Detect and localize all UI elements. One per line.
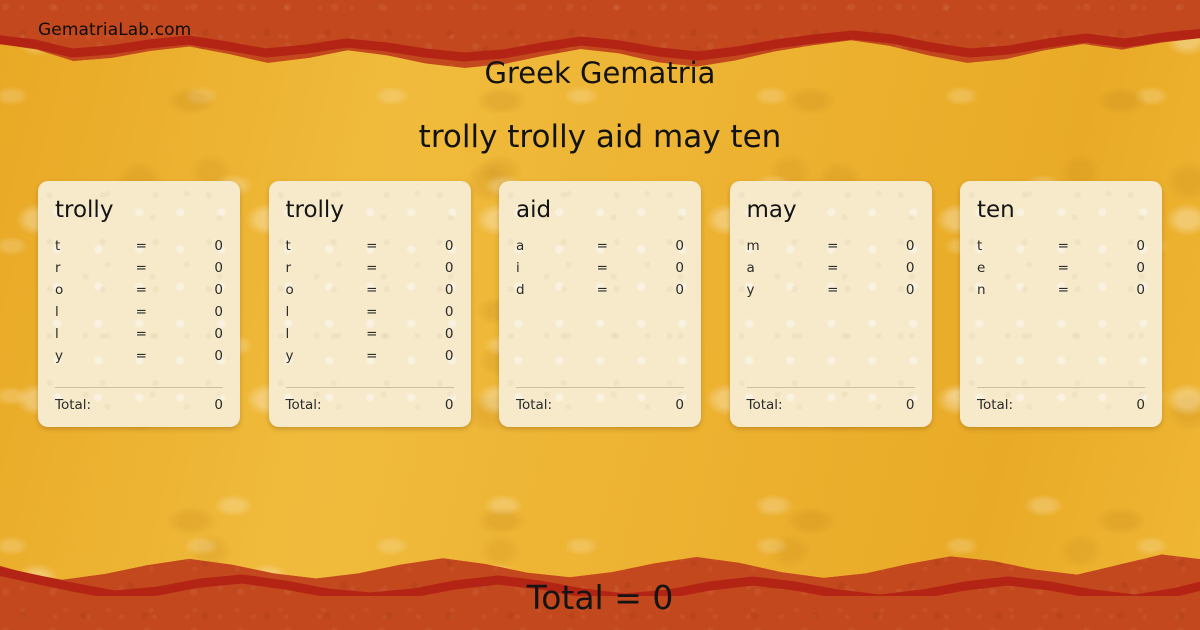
letter-value: 0	[406, 348, 453, 364]
letter-row: l = 0	[55, 326, 223, 348]
letter-row: a = 0	[516, 238, 684, 260]
letter-value: 0	[176, 282, 223, 298]
card-total-label: Total:	[286, 397, 445, 413]
letter-value: 0	[176, 260, 223, 276]
equals-sign: =	[136, 260, 176, 276]
letter-value: 0	[406, 282, 453, 298]
equals-sign: =	[366, 238, 406, 254]
letter-row: d = 0	[516, 282, 684, 304]
letter: l	[286, 304, 367, 320]
equals-sign: =	[1058, 238, 1098, 254]
letter: r	[286, 260, 367, 276]
equals-sign: =	[366, 326, 406, 342]
letter: t	[977, 238, 1058, 254]
letter-value: 0	[1098, 260, 1145, 276]
card-word-title: trolly	[55, 198, 223, 222]
letter-row: t = 0	[55, 238, 223, 260]
letter: y	[286, 348, 367, 364]
card-word-title: ten	[977, 198, 1145, 222]
card-spacer	[286, 370, 454, 387]
word-cards-row: trolly t = 0 r = 0 o = 0 l	[38, 181, 1162, 427]
letter-value: 0	[637, 238, 684, 254]
letter: n	[977, 282, 1058, 298]
letter-row: y = 0	[55, 348, 223, 370]
equals-sign: =	[597, 282, 637, 298]
header-block: Greek Gematria trolly trolly aid may ten	[0, 58, 1200, 154]
letter-value: 0	[406, 326, 453, 342]
card-spacer	[977, 304, 1145, 387]
letter-row: n = 0	[977, 282, 1145, 304]
letter: l	[55, 326, 136, 342]
word-card[interactable]: trolly t = 0 r = 0 o = 0 l	[269, 181, 471, 427]
letter: o	[55, 282, 136, 298]
card-total-value: 0	[1136, 397, 1145, 413]
letter-row: r = 0	[55, 260, 223, 282]
letter-value: 0	[1098, 282, 1145, 298]
letter-value: 0	[867, 282, 914, 298]
card-total-value: 0	[445, 397, 454, 413]
letter: m	[747, 238, 828, 254]
equals-sign: =	[1058, 260, 1098, 276]
letter-value: 0	[1098, 238, 1145, 254]
letter-row: a = 0	[747, 260, 915, 282]
equals-sign: =	[366, 260, 406, 276]
letter-value: 0	[176, 304, 223, 320]
card-total-label: Total:	[977, 397, 1136, 413]
letter: t	[55, 238, 136, 254]
letter-value-list: a = 0 i = 0 d = 0	[516, 238, 684, 304]
equals-sign: =	[366, 282, 406, 298]
card-word-title: aid	[516, 198, 684, 222]
letter: t	[286, 238, 367, 254]
letter: l	[55, 304, 136, 320]
letter: a	[747, 260, 828, 276]
letter: r	[55, 260, 136, 276]
letter-row: l = 0	[286, 326, 454, 348]
letter-value-list: m = 0 a = 0 y = 0	[747, 238, 915, 304]
equals-sign: =	[827, 238, 867, 254]
card-total-row: Total: 0	[286, 397, 454, 413]
card-total-label: Total:	[516, 397, 675, 413]
letter-value: 0	[406, 260, 453, 276]
letter-value: 0	[176, 326, 223, 342]
letter: e	[977, 260, 1058, 276]
letter-value: 0	[637, 282, 684, 298]
card-total-value: 0	[214, 397, 223, 413]
card-total-label: Total:	[55, 397, 214, 413]
phrase-heading: trolly trolly aid may ten	[0, 120, 1200, 154]
word-card[interactable]: aid a = 0 i = 0 d = 0	[499, 181, 701, 427]
equals-sign: =	[597, 238, 637, 254]
equals-sign: =	[827, 282, 867, 298]
letter-value: 0	[406, 238, 453, 254]
card-spacer	[747, 304, 915, 387]
equals-sign: =	[1058, 282, 1098, 298]
letter: d	[516, 282, 597, 298]
equals-sign: =	[136, 282, 176, 298]
letter-row: r = 0	[286, 260, 454, 282]
letter-row: l = 0	[55, 304, 223, 326]
letter: i	[516, 260, 597, 276]
card-divider	[55, 387, 223, 388]
equals-sign: =	[136, 326, 176, 342]
card-word-title: may	[747, 198, 915, 222]
letter: a	[516, 238, 597, 254]
equals-sign: =	[136, 238, 176, 254]
letter: y	[55, 348, 136, 364]
equals-sign: =	[597, 260, 637, 276]
letter-value-list: t = 0 r = 0 o = 0 l = 0	[286, 238, 454, 370]
page-title: Greek Gematria	[0, 58, 1200, 90]
letter-value: 0	[867, 260, 914, 276]
card-total-value: 0	[675, 397, 684, 413]
word-card[interactable]: may m = 0 a = 0 y = 0	[730, 181, 932, 427]
card-total-row: Total: 0	[516, 397, 684, 413]
letter-row: i = 0	[516, 260, 684, 282]
card-divider	[286, 387, 454, 388]
card-total-row: Total: 0	[747, 397, 915, 413]
equals-sign: =	[136, 348, 176, 364]
card-divider	[977, 387, 1145, 388]
site-brand[interactable]: GematriaLab.com	[38, 20, 191, 40]
card-spacer	[55, 370, 223, 387]
letter: y	[747, 282, 828, 298]
letter-row: o = 0	[286, 282, 454, 304]
letter-row: l = 0	[286, 304, 454, 326]
letter-row: y = 0	[286, 348, 454, 370]
letter-value: 0	[406, 304, 453, 320]
letter-value: 0	[637, 260, 684, 276]
card-total-row: Total: 0	[977, 397, 1145, 413]
letter-row: e = 0	[977, 260, 1145, 282]
letter-value-list: t = 0 e = 0 n = 0	[977, 238, 1145, 304]
letter-row: m = 0	[747, 238, 915, 260]
equals-sign: =	[827, 260, 867, 276]
card-word-title: trolly	[286, 198, 454, 222]
card-spacer	[516, 304, 684, 387]
word-card[interactable]: ten t = 0 e = 0 n = 0	[960, 181, 1162, 427]
letter-row: t = 0	[977, 238, 1145, 260]
equals-sign: =	[366, 348, 406, 364]
letter: l	[286, 326, 367, 342]
page-canvas: GematriaLab.com Greek Gematria trolly tr…	[0, 0, 1200, 630]
card-divider	[747, 387, 915, 388]
letter-row: o = 0	[55, 282, 223, 304]
grand-total: Total = 0	[0, 580, 1200, 616]
letter-value: 0	[176, 238, 223, 254]
letter-value: 0	[867, 238, 914, 254]
card-total-label: Total:	[747, 397, 906, 413]
letter-row: t = 0	[286, 238, 454, 260]
word-card[interactable]: trolly t = 0 r = 0 o = 0 l	[38, 181, 240, 427]
card-total-value: 0	[906, 397, 915, 413]
letter-value-list: t = 0 r = 0 o = 0 l = 0	[55, 238, 223, 370]
card-total-row: Total: 0	[55, 397, 223, 413]
letter-row: y = 0	[747, 282, 915, 304]
letter-value: 0	[176, 348, 223, 364]
card-divider	[516, 387, 684, 388]
equals-sign: =	[136, 304, 176, 320]
letter: o	[286, 282, 367, 298]
equals-sign: =	[366, 304, 406, 320]
